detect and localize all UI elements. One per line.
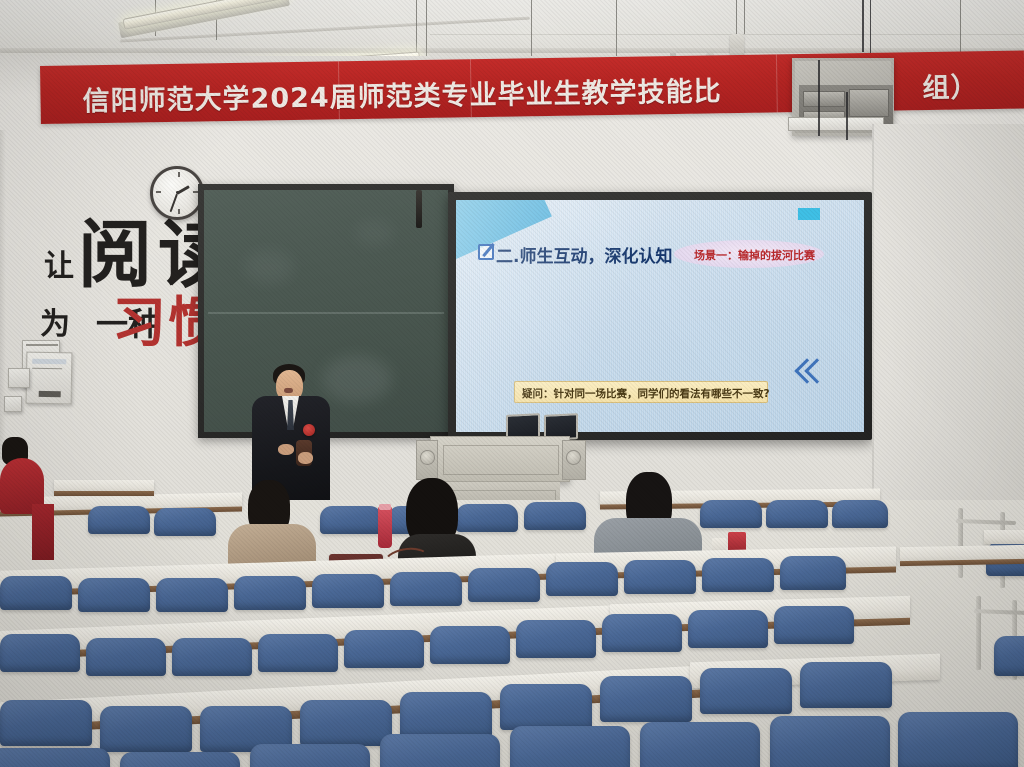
seat[interactable] (766, 500, 828, 528)
desk-right-edge (984, 530, 1024, 544)
board-pointer (416, 190, 422, 228)
seat[interactable] (770, 716, 890, 767)
seat[interactable] (700, 500, 762, 528)
seat[interactable] (172, 638, 252, 676)
seat[interactable] (688, 610, 768, 648)
seat[interactable] (0, 634, 80, 672)
wall-edge (872, 124, 874, 524)
wall-character-rang: 让 (44, 252, 74, 282)
seat[interactable] (390, 572, 462, 606)
seat[interactable] (234, 576, 306, 610)
seat[interactable] (120, 752, 240, 767)
seat[interactable] (156, 578, 228, 612)
edit-note-icon (478, 244, 494, 260)
electrical-box-small (8, 368, 30, 388)
seat[interactable] (344, 630, 424, 668)
chalkboard-surface (204, 190, 448, 432)
seat[interactable] (832, 500, 888, 528)
seat[interactable] (468, 568, 540, 602)
seat[interactable] (86, 638, 166, 676)
banner-text-left: 信阳师范大学2024届师范类专业毕业生教学技能比 (82, 69, 722, 118)
seat[interactable] (774, 606, 854, 644)
aisle-railing-post (976, 596, 981, 670)
wall-character-wei: 为 (40, 310, 70, 340)
seat[interactable] (100, 706, 192, 752)
seat[interactable] (258, 634, 338, 672)
student-left-red-lower (32, 504, 54, 560)
seat[interactable] (624, 560, 696, 594)
bottle-cap (379, 504, 391, 510)
seat[interactable] (78, 578, 150, 612)
seat[interactable] (898, 712, 1018, 767)
seat[interactable] (456, 504, 518, 532)
slide-scene-label: 场景一：输掉的拔河比赛 (694, 247, 815, 263)
hanger-rod (736, 0, 737, 38)
rack-shelf (788, 117, 884, 131)
seat[interactable] (312, 574, 384, 608)
slide-heading: 二.师生互动，深化认知 (496, 242, 672, 267)
chalkboard-track (208, 312, 444, 314)
electrical-panel-main (26, 352, 73, 405)
rack-cable (846, 92, 848, 140)
hanger-rod (744, 0, 745, 34)
ceiling-cable (862, 0, 864, 52)
wall-corner-shade (0, 130, 6, 460)
seat[interactable] (300, 700, 392, 746)
seat[interactable] (500, 684, 592, 730)
presenter-hand-left (278, 444, 294, 455)
lectern-knob-left (420, 450, 435, 465)
seat[interactable] (600, 676, 692, 722)
seat[interactable] (602, 614, 682, 652)
presenter-hand-right (298, 452, 313, 464)
presenter-badge (303, 424, 315, 436)
slide-accent-chip (798, 208, 820, 220)
seat[interactable] (400, 692, 492, 738)
electrical-box-small (4, 396, 22, 412)
seat[interactable] (780, 556, 846, 590)
seat[interactable] (154, 508, 216, 536)
seat[interactable] (800, 662, 892, 708)
seat[interactable] (250, 744, 370, 767)
classroom-scene: 信阳师范大学2024届师范类专业毕业生教学技能比 组） 让 阅读 为 一种 习惯 (0, 0, 1024, 767)
wall-clock (150, 166, 204, 220)
seat[interactable] (510, 726, 630, 767)
presenter-mouth (284, 388, 293, 393)
right-wall (872, 124, 1024, 524)
seat[interactable] (640, 722, 760, 767)
seat[interactable] (994, 636, 1024, 676)
seat[interactable] (0, 748, 110, 767)
lectern-knob-right (566, 450, 581, 465)
seat[interactable] (430, 626, 510, 664)
interactive-whiteboard-screen[interactable]: 二.师生互动，深化认知 场景一：输掉的拔河比赛 疑问：针对同一场比赛，同学们的看… (456, 200, 864, 432)
ceiling-seam-2 (430, 34, 1024, 35)
slide-question-text: 疑问：针对同一场比赛，同学们的看法有哪些不一致? (522, 386, 770, 401)
seat[interactable] (380, 734, 500, 767)
seat[interactable] (0, 700, 92, 746)
seat[interactable] (88, 506, 150, 534)
seat[interactable] (524, 502, 586, 530)
desk-edge (54, 491, 154, 496)
banner-text-right: 组） (922, 65, 979, 105)
lectern[interactable] (430, 436, 570, 482)
seat[interactable] (0, 576, 72, 610)
seat[interactable] (702, 558, 774, 592)
seat[interactable] (320, 506, 382, 534)
seat[interactable] (700, 668, 792, 714)
water-bottle[interactable] (378, 506, 392, 548)
rack-cable (818, 60, 820, 136)
slide-canvas[interactable]: 二.师生互动，深化认知 场景一：输掉的拔河比赛 疑问：针对同一场比赛，同学们的看… (456, 200, 864, 432)
seat[interactable] (516, 620, 596, 658)
seat[interactable] (546, 562, 618, 596)
